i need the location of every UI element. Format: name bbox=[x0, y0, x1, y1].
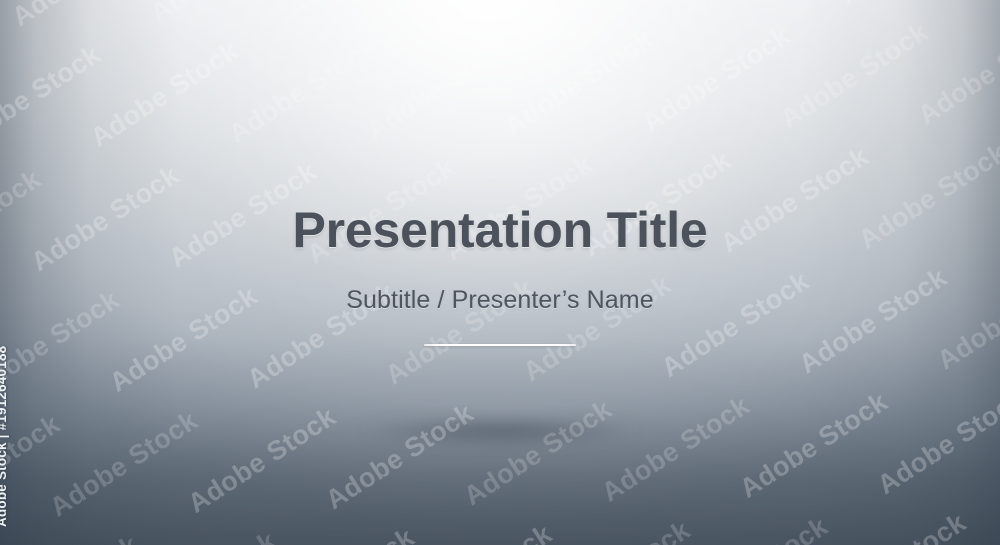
floor-contact-shadow bbox=[330, 414, 670, 448]
watermark-text: Adobe Stock bbox=[420, 0, 579, 21]
watermark-row: Adobe StockAdobe StockAdobe StockAdobe S… bbox=[52, 0, 1000, 545]
watermark-row: Adobe StockAdobe StockAdobe StockAdobe S… bbox=[0, 0, 881, 306]
slide-subtitle: Subtitle / Presenter’s Name bbox=[0, 288, 1000, 313]
watermark-row: Adobe StockAdobe StockAdobe StockAdobe S… bbox=[149, 285, 1000, 545]
watermark-text: Adobe Stock bbox=[182, 401, 341, 519]
watermark-text: Adobe Stock bbox=[636, 20, 795, 138]
watermark-text: Adobe Stock bbox=[558, 0, 717, 18]
watermark-overlay: Adobe StockAdobe StockAdobe StockAdobe S… bbox=[0, 0, 1000, 545]
watermark-text: Adobe Stock bbox=[596, 390, 755, 508]
watermark-row: Adobe StockAdobe StockAdobe StockAdobe S… bbox=[0, 0, 1000, 545]
watermark-text: Adobe Stock bbox=[972, 0, 1000, 6]
title-divider-rule bbox=[424, 344, 576, 346]
watermark-text: Adobe Stock bbox=[282, 0, 441, 25]
backdrop-spotlight bbox=[0, 0, 1000, 545]
backdrop-vignette bbox=[0, 0, 1000, 545]
watermark-text: Adobe Stock bbox=[872, 382, 1000, 500]
watermark-text: Adobe Stock bbox=[499, 24, 658, 142]
watermark-text: Adobe Stock bbox=[223, 31, 382, 149]
watermark-text: Adobe Stock bbox=[85, 35, 244, 153]
watermark-text: Adobe Stock bbox=[950, 503, 1000, 545]
watermark-text: Adobe Stock bbox=[674, 511, 833, 545]
watermark-text: Adobe Stock bbox=[361, 28, 520, 146]
watermark-row: Adobe StockAdobe StockAdobe StockAdobe S… bbox=[306, 527, 1000, 545]
watermark-row: Adobe StockAdobe StockAdobe StockAdobe S… bbox=[0, 0, 1000, 544]
watermark-text: Adobe Stock bbox=[144, 0, 303, 29]
watermark-text: Adobe Stock bbox=[0, 533, 6, 545]
watermark-text: Adobe Stock bbox=[261, 522, 420, 545]
watermark-row: Adobe StockAdobe StockAdobe StockAdobe S… bbox=[366, 466, 1000, 545]
watermark-text: Adobe Stock bbox=[398, 518, 557, 545]
watermark-row: Adobe StockAdobe StockAdobe StockAdobe S… bbox=[209, 225, 1000, 545]
backdrop-base-gradient bbox=[0, 0, 1000, 545]
watermark-text: Adobe Stock bbox=[0, 529, 144, 545]
watermark-text: Adobe Stock bbox=[458, 393, 617, 511]
watermark-row: Adobe StockAdobe StockAdobe StockAdobe S… bbox=[287, 345, 1000, 545]
watermark-row: Adobe StockAdobe StockAdobe StockAdobe S… bbox=[131, 104, 1000, 545]
watermark-text: Adobe Stock bbox=[696, 0, 855, 14]
watermark-text: Adobe Stock bbox=[775, 16, 934, 134]
watermark-row: Adobe StockAdobe StockAdobe StockAdobe S… bbox=[0, 0, 1000, 545]
watermark-text: Adobe Stock bbox=[912, 13, 1000, 131]
watermark-text: Adobe Stock bbox=[0, 39, 106, 157]
watermark-text: Adobe Stock bbox=[320, 397, 479, 515]
watermark-text: Adobe Stock bbox=[44, 405, 203, 523]
watermark-text: Adobe Stock bbox=[123, 525, 282, 545]
backdrop-left-edge-shade bbox=[0, 0, 1000, 545]
backdrop-floor-shade bbox=[0, 0, 1000, 545]
watermark-text: Adobe Stock bbox=[537, 514, 696, 545]
watermark-text: Adobe Stock bbox=[0, 408, 65, 526]
watermark-text: Adobe Stock bbox=[734, 386, 893, 504]
page-title: Presentation Title bbox=[0, 205, 1000, 255]
watermark-row: Adobe StockAdobe StockAdobe StockAdobe S… bbox=[0, 0, 1000, 545]
backdrop-soft-wash bbox=[0, 0, 1000, 545]
watermark-text: Adobe Stock bbox=[793, 262, 952, 380]
watermark-text: Adobe Stock bbox=[812, 507, 971, 545]
backdrop-right-edge-shade bbox=[0, 0, 1000, 545]
watermark-row: Adobe StockAdobe StockAdobe StockAdobe S… bbox=[0, 0, 1000, 545]
stock-credit-label: Adobe Stock | #1912640188 bbox=[0, 346, 9, 527]
watermark-text: Adobe Stock bbox=[932, 258, 1000, 376]
slide-canvas: Adobe StockAdobe StockAdobe StockAdobe S… bbox=[0, 0, 1000, 545]
watermark-text: Adobe Stock bbox=[656, 265, 815, 383]
watermark-text: Adobe Stock bbox=[834, 0, 993, 10]
watermark-text: Adobe Stock bbox=[6, 0, 165, 32]
watermark-row: Adobe StockAdobe StockAdobe StockAdobe S… bbox=[228, 406, 1000, 545]
